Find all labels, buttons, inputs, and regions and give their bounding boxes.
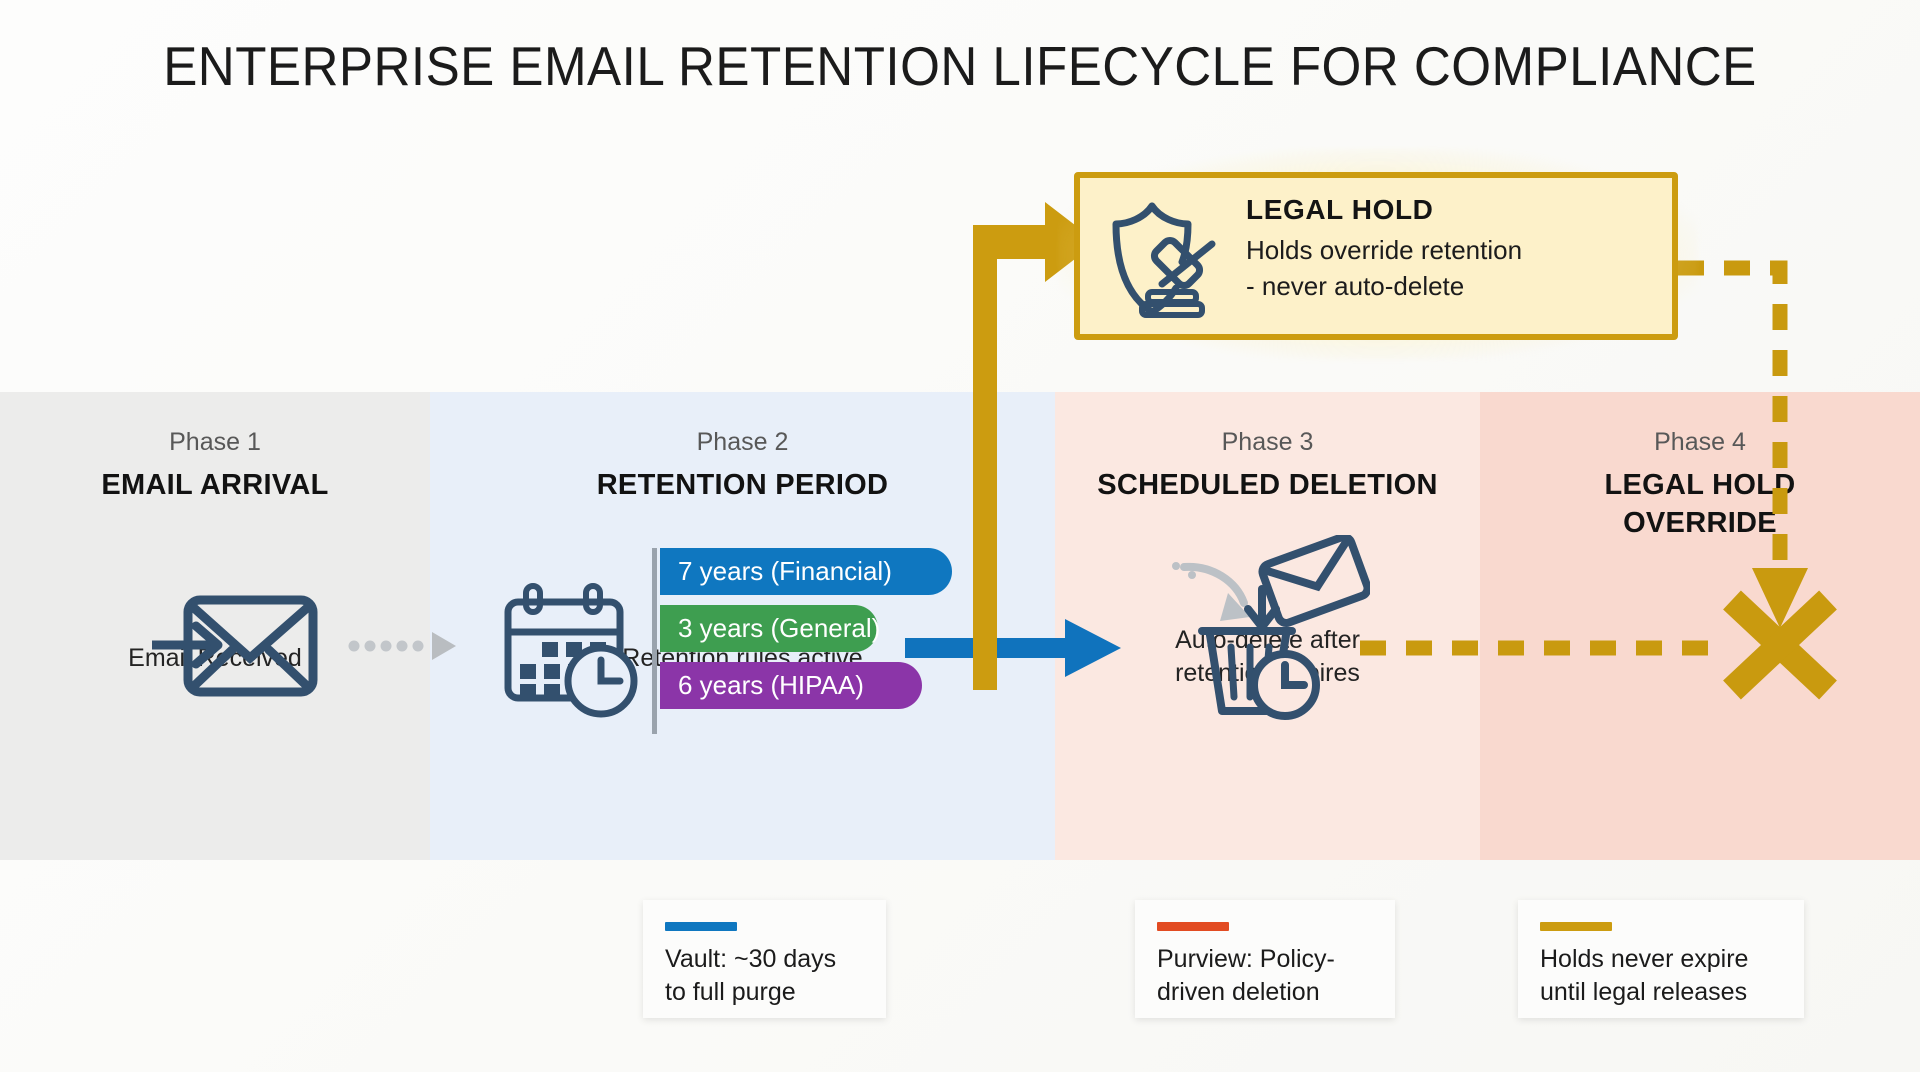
retention-bar-general[interactable]: 3 years (General): [660, 605, 878, 652]
legend-holds-line1: Holds never expire: [1540, 943, 1782, 976]
calendar-clock-icon: [500, 580, 645, 720]
trash-clock-envelope-icon: [1140, 535, 1370, 720]
legal-hold-callout[interactable]: LEGAL HOLD Holds override retention - ne…: [1074, 172, 1678, 340]
legend-purview-line2: driven deletion: [1157, 976, 1373, 1009]
gold-x-icon: [1716, 590, 1844, 700]
page-title: ENTERPRISE EMAIL RETENTION LIFECYCLE FOR…: [67, 34, 1853, 98]
shield-gavel-icon: [1104, 194, 1234, 324]
gold-dashed-horizontal-line: [1356, 634, 1736, 662]
phase-1-title: EMAIL ARRIVAL: [0, 466, 430, 504]
retention-bar-hipaa-label: 6 years (HIPAA): [678, 670, 864, 701]
legend-swatch-holds: [1540, 922, 1612, 931]
retention-bar-financial-label: 7 years (Financial): [678, 556, 892, 587]
dotted-connector-arrow: [348, 630, 458, 662]
diagram-canvas: ENTERPRISE EMAIL RETENTION LIFECYCLE FOR…: [0, 0, 1920, 1072]
legend-swatch-vault: [665, 922, 737, 931]
legend-holds-line2: until legal releases: [1540, 976, 1782, 1009]
legend-purview-line1: Purview: Policy-: [1157, 943, 1373, 976]
legal-hold-line1: Holds override retention: [1246, 232, 1666, 268]
retention-bar-general-label: 3 years (General): [678, 613, 880, 644]
legend-swatch-purview: [1157, 922, 1229, 931]
phase-1-number: Phase 1: [0, 428, 430, 457]
legend-card-purview[interactable]: Purview: Policy- driven deletion: [1135, 900, 1395, 1018]
legend-vault-line2: to full purge: [665, 976, 864, 1009]
incoming-envelope-icon: [150, 588, 340, 703]
gold-dashed-override-path: [1670, 238, 1880, 638]
legend-card-vault[interactable]: Vault: ~30 days to full purge: [643, 900, 886, 1018]
bars-axis: [652, 548, 657, 734]
legend-vault-line1: Vault: ~30 days: [665, 943, 864, 976]
retention-bar-hipaa[interactable]: 6 years (HIPAA): [660, 662, 922, 709]
retention-bar-financial[interactable]: 7 years (Financial): [660, 548, 952, 595]
legal-hold-text: LEGAL HOLD Holds override retention - ne…: [1246, 194, 1666, 304]
legal-hold-line2: - never auto-delete: [1246, 268, 1666, 304]
legend-card-holds[interactable]: Holds never expire until legal releases: [1518, 900, 1804, 1018]
legal-hold-heading: LEGAL HOLD: [1246, 194, 1666, 226]
